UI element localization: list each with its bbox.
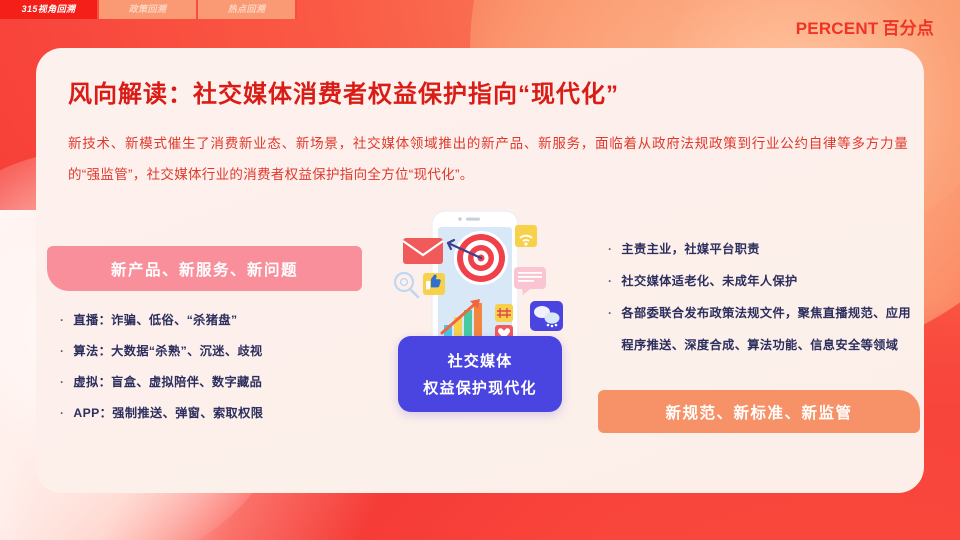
list-item: · APP：强制推送、弹窗、索取权限 — [60, 398, 370, 429]
left-panel-heading-pill: 新产品、新服务、新问题 — [47, 246, 362, 291]
wifi-signal-icon — [515, 225, 537, 247]
bullet-marker-icon: · — [60, 305, 64, 336]
envelope-mail-icon — [403, 238, 443, 264]
list-item-label: APP：强制推送、弹窗、索取权限 — [73, 398, 263, 429]
thumbs-up-icon — [423, 273, 445, 295]
center-badge: 社交媒体 权益保护现代化 — [398, 336, 562, 412]
list-item-label: 虚拟：盲盒、虚拟陪伴、数字藏品 — [73, 367, 262, 398]
left-panel-list: · 直播：诈骗、低俗、“杀猪盘” · 算法：大数据“杀熟”、沉迷、歧视 · 虚拟… — [60, 305, 370, 429]
list-item: · 直播：诈骗、低俗、“杀猪盘” — [60, 305, 370, 336]
bullet-marker-icon: · — [60, 398, 64, 429]
center-illustration — [390, 205, 570, 355]
tab-hotspot-review[interactable]: 热点回溯 — [198, 0, 297, 19]
brand-logo-cn: 百分点 — [882, 19, 934, 38]
tab-policy-review[interactable]: 政策回溯 — [99, 0, 198, 19]
page-title: 风向解读：社交媒体消费者权益保护指向“现代化” — [68, 74, 619, 109]
tab-label: 315视角回溯 — [22, 5, 76, 14]
bullet-marker-icon: · — [60, 367, 64, 398]
list-item-label: 社交媒体适老化、未成年人保护 — [621, 265, 797, 297]
lead-paragraph: 新技术、新模式催生了消费新业态、新场景，社交媒体领域推出的新产品、新服务，面临着… — [68, 128, 908, 190]
right-panel-list: · 主责主业，社媒平台职责 · 社交媒体适老化、未成年人保护 · 各部委联合发布… — [608, 233, 913, 361]
list-item: · 社交媒体适老化、未成年人保护 — [608, 265, 913, 297]
list-item: · 算法：大数据“杀熟”、沉迷、歧视 — [60, 336, 370, 367]
bullet-marker-icon: · — [608, 297, 612, 329]
brand-logo-en: PERCENT — [796, 19, 879, 38]
right-panel-heading-pill: 新规范、新标准、新监管 — [598, 390, 920, 433]
slide-canvas: 315视角回溯 政策回溯 热点回溯 PERCENT百分点 风向解读：社交媒体消费… — [0, 0, 960, 540]
chat-bubble-icon — [514, 267, 546, 295]
list-item-label: 直播：诈骗、低俗、“杀猪盘” — [73, 305, 237, 336]
list-item: · 虚拟：盲盒、虚拟陪伴、数字藏品 — [60, 367, 370, 398]
list-item-label: 主责主业，社媒平台职责 — [621, 233, 759, 265]
brand-logo: PERCENT百分点 — [796, 14, 934, 39]
bullet-marker-icon: · — [608, 265, 612, 297]
magnifier-search-icon — [395, 273, 418, 297]
top-tab-strip: 315视角回溯 政策回溯 热点回溯 — [0, 0, 297, 19]
right-panel-heading-label: 新规范、新标准、新监管 — [665, 401, 852, 423]
left-panel-heading-label: 新产品、新服务、新问题 — [111, 258, 298, 280]
chat-bubbles-group-icon — [530, 301, 563, 331]
list-item-label: 算法：大数据“杀熟”、沉迷、歧视 — [73, 336, 262, 367]
bullet-marker-icon: · — [608, 233, 612, 265]
hash-tag-icon — [495, 304, 513, 322]
center-badge-line-2: 权益保护现代化 — [423, 377, 536, 398]
list-item-label: 各部委联合发布政策法规文件，聚焦直播规范、应用程序推送、深度合成、算法功能、信息… — [621, 297, 913, 361]
center-badge-line-1: 社交媒体 — [448, 350, 513, 371]
bullet-marker-icon: · — [60, 336, 64, 367]
tab-315-review[interactable]: 315视角回溯 — [0, 0, 99, 19]
illustration-svg — [390, 205, 570, 355]
tab-label: 政策回溯 — [129, 5, 167, 14]
list-item: · 各部委联合发布政策法规文件，聚焦直播规范、应用程序推送、深度合成、算法功能、… — [608, 297, 913, 361]
list-item: · 主责主业，社媒平台职责 — [608, 233, 913, 265]
tab-label: 热点回溯 — [228, 5, 266, 14]
